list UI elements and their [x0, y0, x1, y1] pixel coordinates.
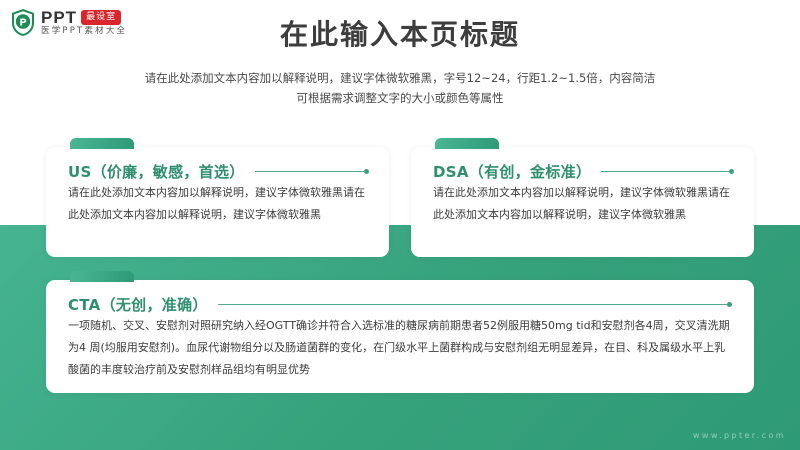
header-rule	[601, 171, 729, 172]
card-accent-tab	[435, 138, 499, 149]
subtitle-line-2: 可根据需求调整文字的大小或颜色等属性	[0, 88, 800, 108]
slide-canvas: P PPT 最设室 医学PPT素材大全 在此输入本页标题 请在此处添加文本内容加…	[0, 0, 800, 450]
card-body-text: 一项随机、交叉、安慰剂对照研究纳入经OGTT确诊并符合入选标准的糖尿病前期患者5…	[68, 315, 732, 381]
subtitle-line-1: 请在此处添加文本内容加以解释说明，建议字体微软雅黑，字号12~24，行距1.2~…	[0, 68, 800, 88]
card-header: DSA（有创，金标准）	[433, 161, 734, 182]
card-cta[interactable]: CTA（无创，准确） 一项随机、交叉、安慰剂对照研究纳入经OGTT确诊并符合入选…	[46, 280, 754, 393]
card-header: CTA（无创，准确）	[68, 294, 732, 315]
card-accent-tab	[70, 138, 134, 149]
card-dsa[interactable]: DSA（有创，金标准） 请在此处添加文本内容加以解释说明，建议字体微软雅黑请在此…	[411, 147, 754, 257]
card-body-text: 请在此处添加文本内容加以解释说明，建议字体微软雅黑请在此处添加文本内容加以解释说…	[68, 182, 369, 226]
card-title: CTA（无创，准确）	[68, 294, 208, 315]
page-title: 在此输入本页标题	[0, 18, 800, 52]
header-rule	[255, 171, 364, 172]
header-rule	[218, 304, 727, 305]
watermark: www.ppter.com	[693, 431, 786, 440]
page-subtitle: 请在此处添加文本内容加以解释说明，建议字体微软雅黑，字号12~24，行距1.2~…	[0, 68, 800, 108]
header-end-dot-icon	[364, 169, 369, 174]
header-end-dot-icon	[729, 169, 734, 174]
card-header: US（价廉，敏感，首选）	[68, 161, 369, 182]
card-title: DSA（有创，金标准）	[433, 161, 591, 182]
card-body-text: 请在此处添加文本内容加以解释说明，建议字体微软雅黑请在此处添加文本内容加以解释说…	[433, 182, 734, 226]
card-title: US（价廉，敏感，首选）	[68, 161, 245, 182]
card-us[interactable]: US（价廉，敏感，首选） 请在此处添加文本内容加以解释说明，建议字体微软雅黑请在…	[46, 147, 389, 257]
card-accent-tab	[70, 271, 134, 282]
header-end-dot-icon	[727, 302, 732, 307]
